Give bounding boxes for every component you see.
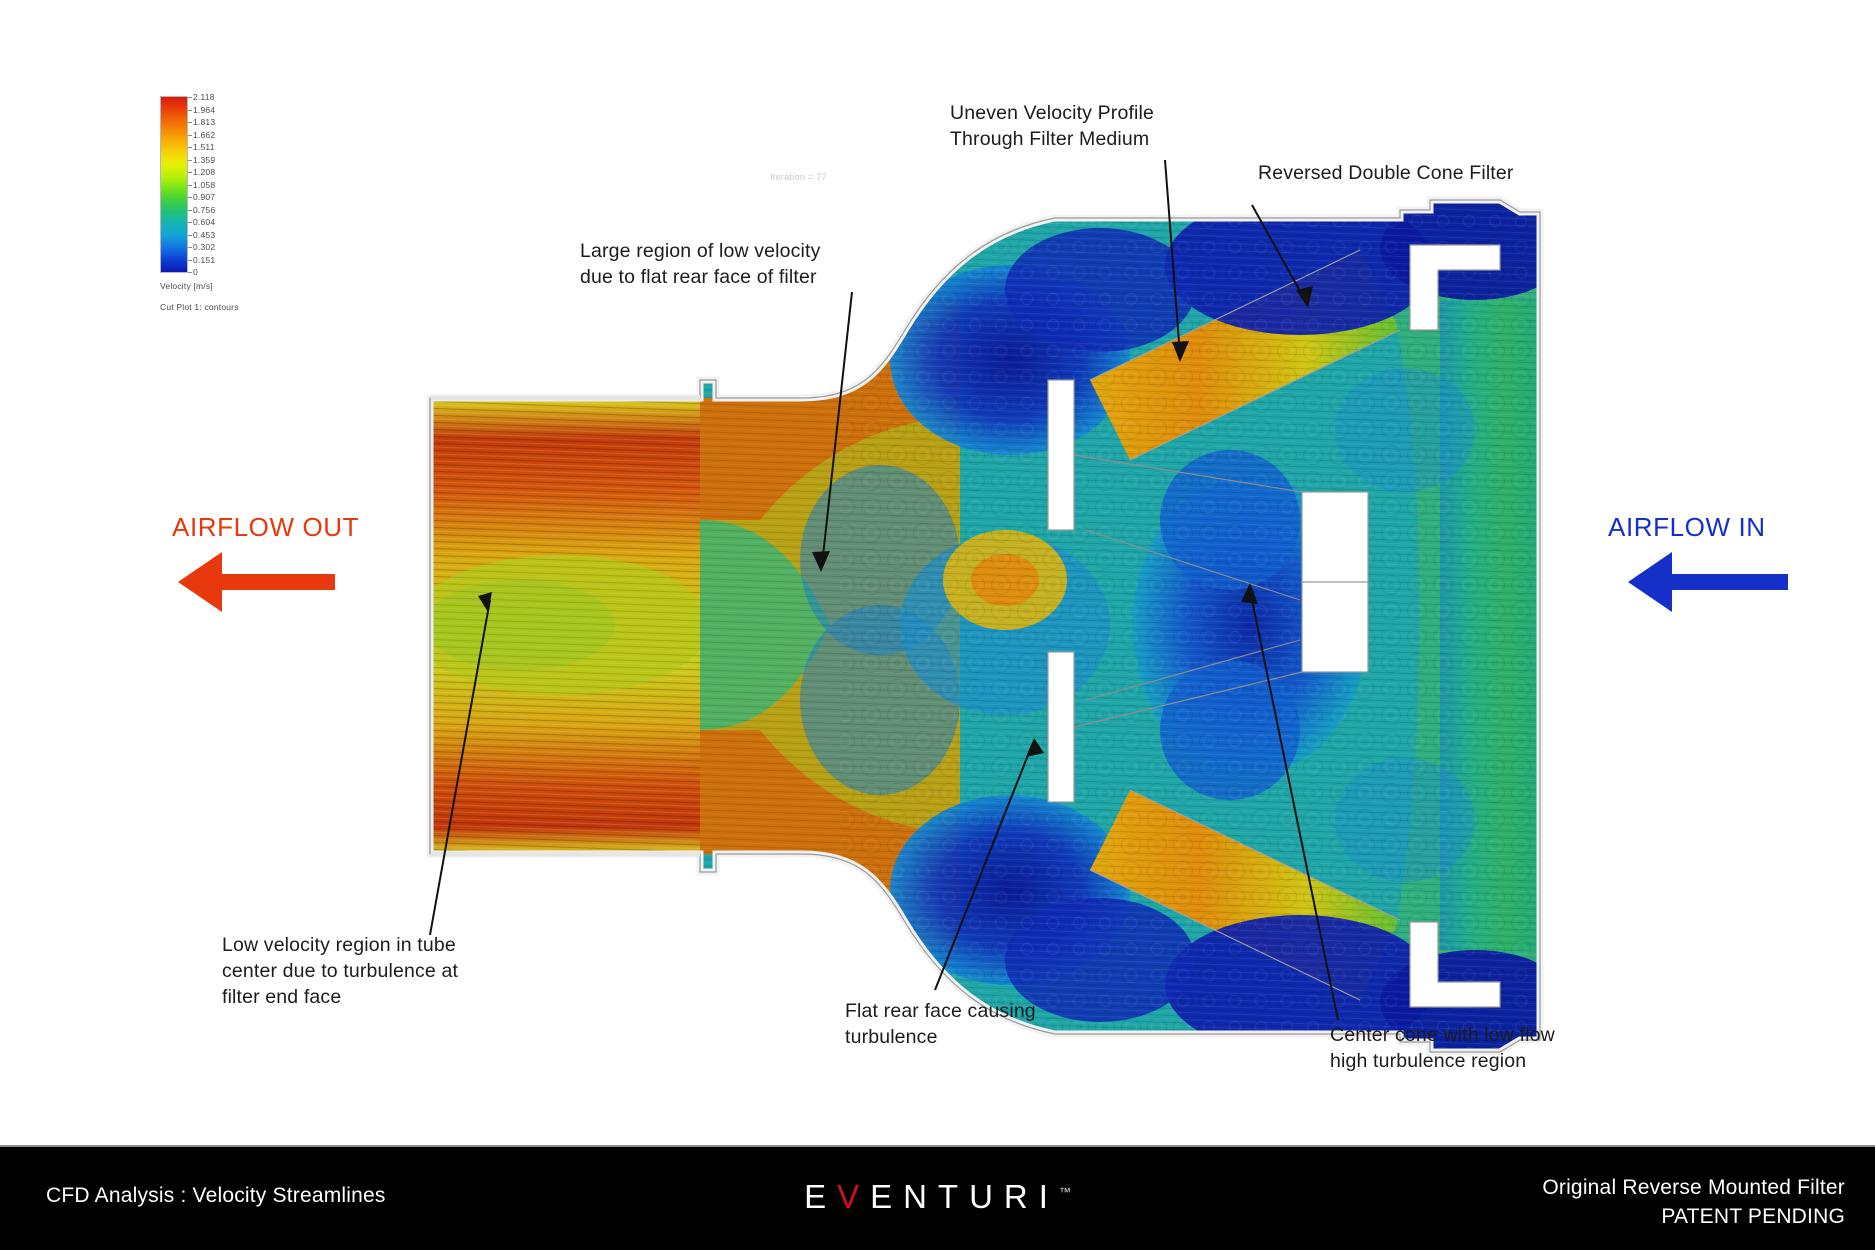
velocity-field (400, 180, 1580, 1080)
annotation-large-low-velocity-region: Large region of low velocity due to flat… (580, 238, 821, 290)
airflow-in-arrow (1628, 552, 1788, 612)
colorbar-tick: 0 (193, 268, 198, 277)
colorbar-gradient (160, 96, 188, 273)
logo-text-post: ENTURI (870, 1178, 1059, 1215)
colorbar-tick: 1.058 (193, 181, 215, 190)
footer-bar: CFD Analysis : Velocity Streamlines EVEN… (0, 1145, 1875, 1250)
iteration-label: Iteration = 77 (770, 172, 827, 182)
colorbar-tick: 0.907 (193, 193, 215, 202)
annotation-reversed-double-cone-filter: Reversed Double Cone Filter (1258, 160, 1514, 186)
colorbar-tick: 1.813 (193, 118, 215, 127)
colorbar-tick: 1.964 (193, 106, 215, 115)
annotation-low-velocity-tube-center: Low velocity region in tube center due t… (222, 932, 458, 1010)
filter-end-plate-top (1048, 380, 1074, 530)
trademark-symbol: ™ (1059, 1185, 1071, 1199)
colorbar-tick: 2.118 (193, 93, 215, 102)
colorbar-title: Velocity [m/s] (160, 281, 310, 291)
colorbar-tick: 0.604 (193, 218, 215, 227)
footer-product-name: Original Reverse Mounted Filter (1542, 1173, 1845, 1202)
cfd-figure-canvas: 2.118 1.964 1.813 1.662 1.511 1.359 1.20… (0, 0, 1875, 1250)
colorbar-tick: 1.208 (193, 168, 215, 177)
colorbar-tick: 0.151 (193, 256, 215, 265)
colorbar-tick-labels: 2.118 1.964 1.813 1.662 1.511 1.359 1.20… (193, 96, 303, 273)
colorbar-tick: 1.511 (193, 143, 215, 152)
footer-patent-status: PATENT PENDING (1542, 1202, 1845, 1231)
colorbar-tick: 0.302 (193, 243, 215, 252)
footer-product-info: Original Reverse Mounted Filter PATENT P… (1542, 1173, 1845, 1231)
colorbar-tick: 1.662 (193, 131, 215, 140)
airflow-in-label: AIRFLOW IN (1608, 512, 1766, 543)
eventuri-logo: EVENTURI™ (804, 1178, 1071, 1216)
footer-analysis-title: CFD Analysis : Velocity Streamlines (46, 1184, 386, 1208)
airflow-out-arrow (178, 552, 335, 612)
airflow-out-label: AIRFLOW OUT (172, 512, 359, 543)
cut-plot-caption: Cut Plot 1: contours (160, 302, 310, 312)
logo-v-accent: V (837, 1178, 870, 1215)
annotation-uneven-velocity-profile: Uneven Velocity Profile Through Filter M… (950, 100, 1154, 152)
colorbar-tick: 1.359 (193, 156, 215, 165)
logo-text-pre: E (804, 1178, 837, 1215)
annotation-center-cone: Center cone with low flow high turbulenc… (1330, 1022, 1555, 1074)
filter-end-plate-bottom (1048, 652, 1074, 802)
annotation-flat-rear-face: Flat rear face causing turbulence (845, 998, 1036, 1050)
colorbar-tick: 0.756 (193, 206, 215, 215)
colorbar-tick: 0.453 (193, 231, 215, 240)
velocity-colorbar-legend: 2.118 1.964 1.813 1.662 1.511 1.359 1.20… (160, 96, 310, 312)
